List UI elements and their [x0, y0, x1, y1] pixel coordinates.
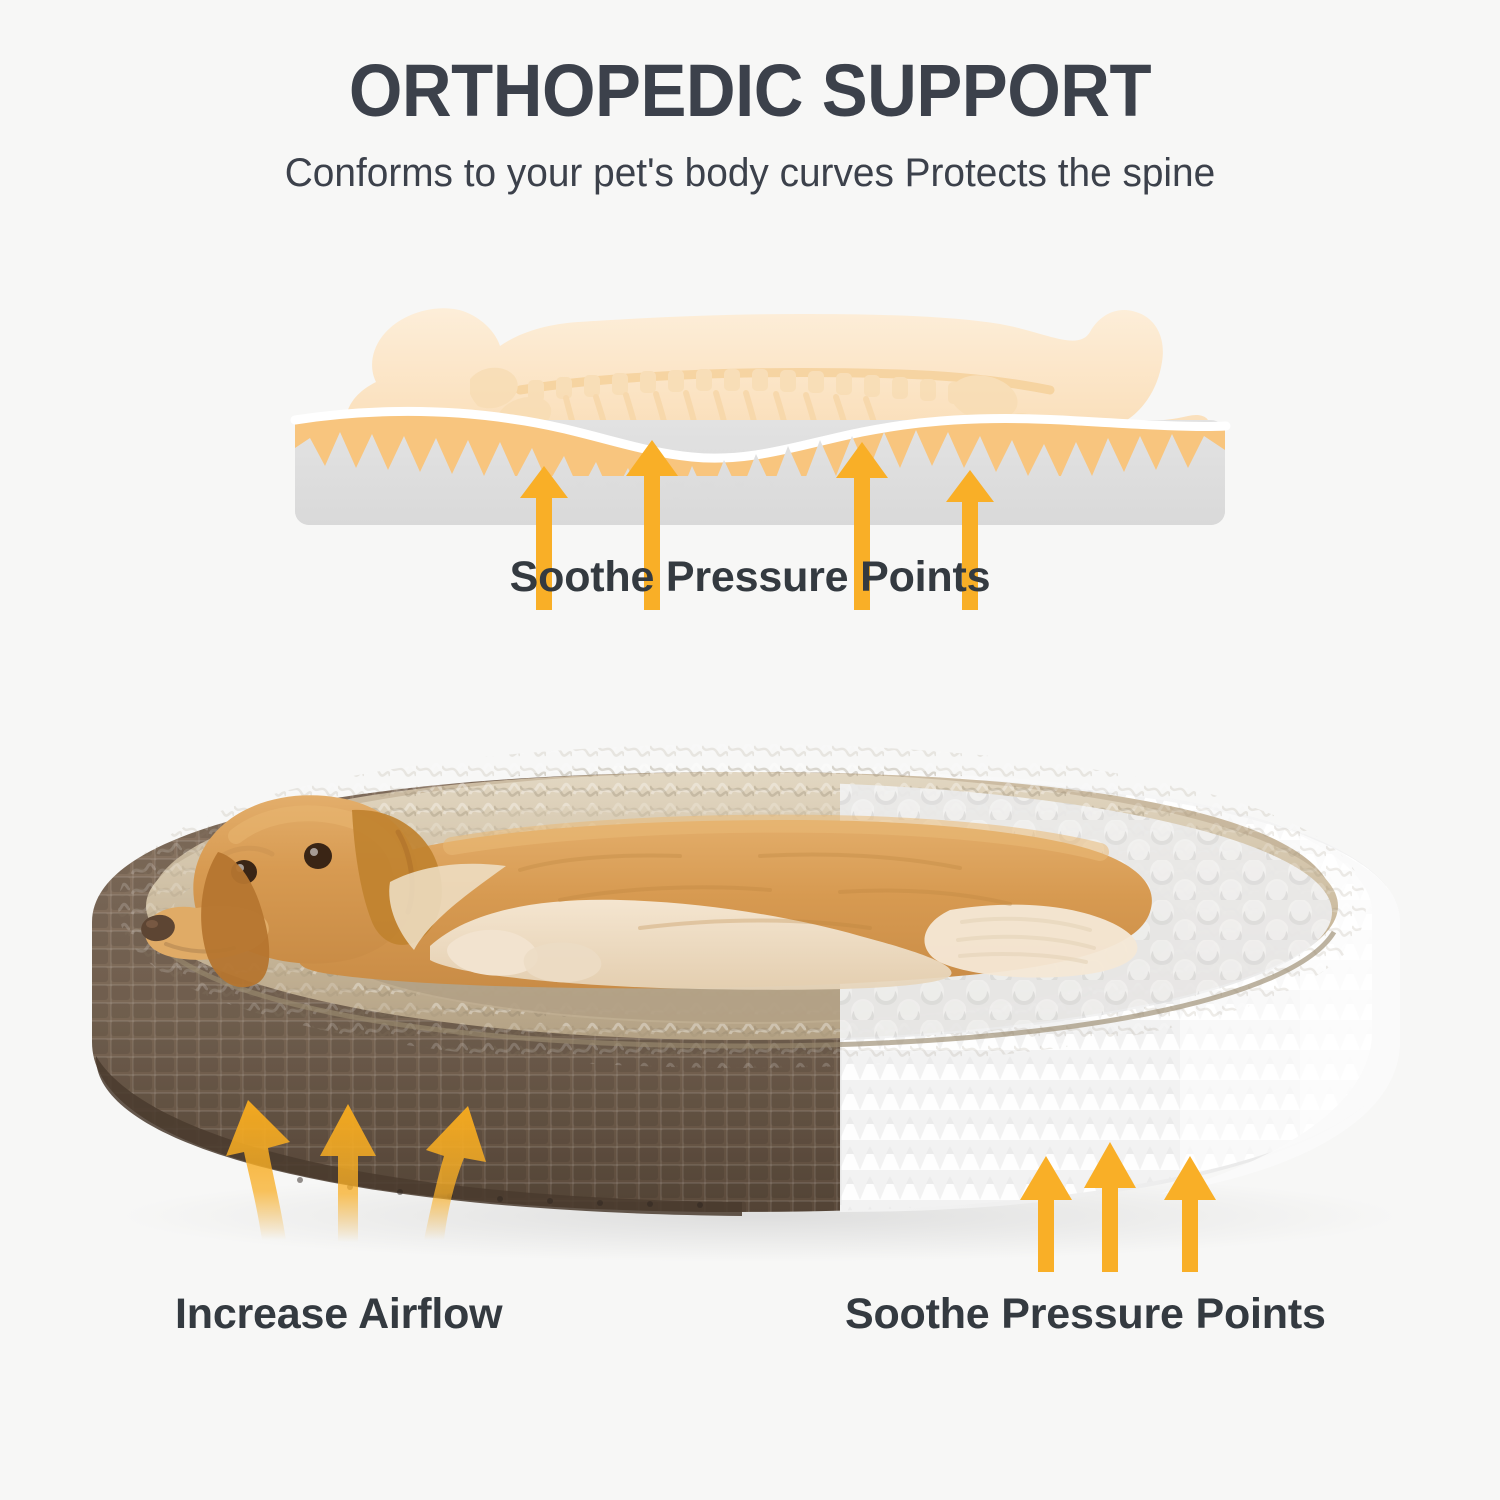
page-subtitle: Conforms to your pet's body curves Prote… [23, 128, 1478, 196]
infographic-page: ORTHOPEDIC SUPPORT Conforms to your pet'… [0, 0, 1500, 1500]
page-title: ORTHOPEDIC SUPPORT [53, 0, 1448, 128]
bottom-label-row: Increase Airflow Soothe Pressure Points [0, 1290, 1500, 1360]
airflow-label: Increase Airflow [175, 1290, 502, 1339]
dog-eye-right [304, 843, 332, 869]
diagram-caption: Soothe Pressure Points [0, 553, 1500, 602]
pressure-label: Soothe Pressure Points [845, 1290, 1326, 1339]
header: ORTHOPEDIC SUPPORT Conforms to your pet'… [0, 0, 1500, 196]
product-scene [0, 660, 1500, 1340]
